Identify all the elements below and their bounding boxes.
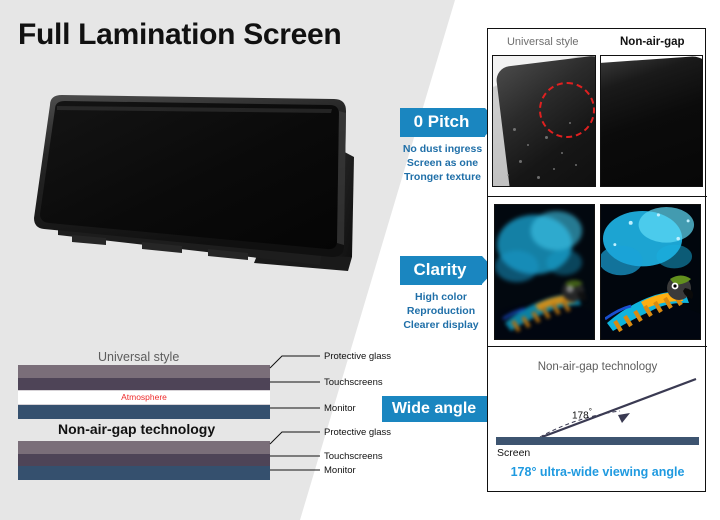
label-protective-glass: Protective glass bbox=[324, 427, 391, 438]
viewing-angle-diagram: 178° Screen 178° ultra-wide viewing angl… bbox=[496, 373, 699, 481]
label-touchscreens: Touchscreens bbox=[324, 377, 383, 388]
label-protective-glass: Protective glass bbox=[324, 351, 391, 362]
screen-label: Screen bbox=[497, 447, 530, 459]
badge-subline: Clearer display bbox=[392, 318, 490, 332]
photo-row-corners bbox=[488, 55, 707, 191]
badge-subline: Reproduction bbox=[392, 304, 490, 318]
slide-root: Full Lamination Screen bbox=[0, 0, 720, 520]
header-non-air-gap: Non-air-gap bbox=[598, 36, 708, 48]
badge-subline: High color bbox=[392, 290, 490, 304]
label-monitor: Monitor bbox=[324, 465, 356, 476]
header-universal-style: Universal style bbox=[488, 36, 598, 48]
screen-bar bbox=[496, 437, 699, 445]
badge-sublines: No dust ingress Screen as one Tronger te… bbox=[395, 142, 490, 185]
badge-subline: No dust ingress bbox=[395, 142, 490, 156]
photo-parrot-blurry bbox=[494, 204, 595, 340]
page-title: Full Lamination Screen bbox=[18, 18, 341, 52]
badge-sublines: High color Reproduction Clearer display bbox=[392, 290, 490, 333]
viewing-angle-value: 178° bbox=[572, 407, 592, 421]
badge-label: 0 Pitch bbox=[400, 108, 486, 137]
photo-universal-dusty-corner bbox=[492, 55, 596, 187]
section-dust-comparison: Universal style Non-air-gap bbox=[488, 29, 707, 197]
feature-badge-0-pitch[interactable]: 0 Pitch No dust ingress Screen as one Tr… bbox=[395, 108, 490, 184]
section-clarity-comparison bbox=[488, 197, 707, 347]
badge-subline: Tronger texture bbox=[395, 170, 490, 184]
section-viewing-angle: Non-air-gap technology 178° Screen 178° … bbox=[488, 347, 707, 492]
viewing-angle-caption: 178° ultra-wide viewing angle bbox=[496, 465, 699, 479]
label-touchscreens: Touchscreens bbox=[324, 451, 383, 462]
label-monitor: Monitor bbox=[324, 403, 356, 414]
layer-diagram: Universal style Atmosphere Non-air-gap t… bbox=[0, 340, 440, 500]
comparison-headers: Universal style Non-air-gap bbox=[488, 29, 707, 55]
dust-highlight-circle-icon bbox=[539, 82, 595, 138]
feature-badge-clarity[interactable]: Clarity High color Reproduction Clearer … bbox=[392, 256, 490, 332]
leader-lines bbox=[0, 340, 440, 500]
badge-subline: Screen as one bbox=[395, 156, 490, 170]
viewing-angle-title: Non-air-gap technology bbox=[488, 347, 707, 373]
comparison-panel: Universal style Non-air-gap bbox=[487, 28, 706, 492]
photo-row-parrots bbox=[488, 197, 707, 347]
photo-parrot-sharp bbox=[600, 204, 701, 340]
product-image-car-display bbox=[22, 85, 392, 285]
badge-label: Clarity bbox=[400, 256, 483, 285]
photo-non-air-gap-clean-corner bbox=[600, 55, 704, 187]
